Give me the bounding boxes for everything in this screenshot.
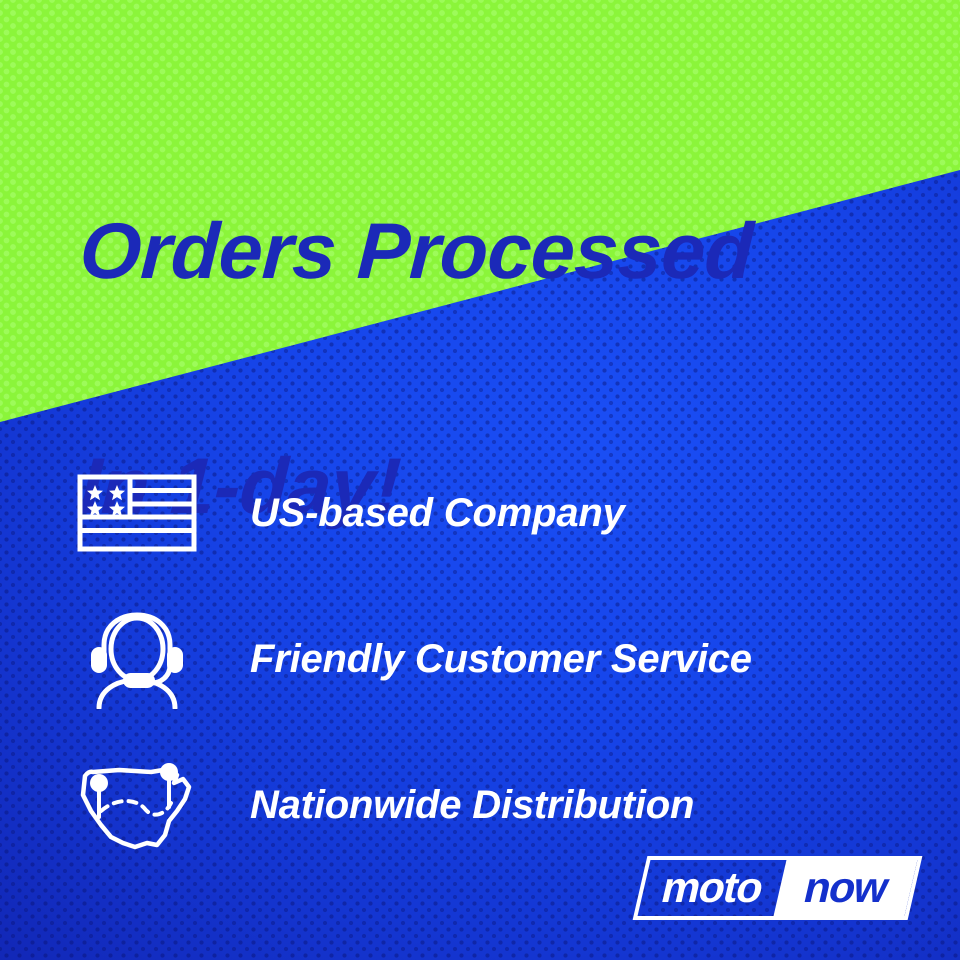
- us-map-route-icon: [72, 759, 202, 851]
- logo-now-panel: now: [774, 860, 918, 916]
- logo-text-now: now: [800, 867, 891, 910]
- motonow-logo: moto now: [633, 856, 923, 920]
- logo-moto-panel: moto: [638, 860, 787, 916]
- feature-label: Nationwide Distribution: [250, 783, 694, 828]
- promo-graphic: Orders Processed In 1-day! US-ba: [0, 0, 960, 960]
- feature-item-us-based: US-based Company: [0, 440, 960, 586]
- feature-label: Friendly Customer Service: [250, 637, 752, 682]
- us-flag-icon: [72, 474, 202, 552]
- headset-agent-icon: [72, 609, 202, 709]
- logo-text-moto: moto: [658, 867, 767, 910]
- feature-item-customer-service: Friendly Customer Service: [0, 586, 960, 732]
- feature-list: US-based Company Friendly Customer Servi…: [0, 440, 960, 878]
- headline-line-1: Orders Processed: [78, 212, 922, 290]
- feature-label: US-based Company: [250, 491, 625, 536]
